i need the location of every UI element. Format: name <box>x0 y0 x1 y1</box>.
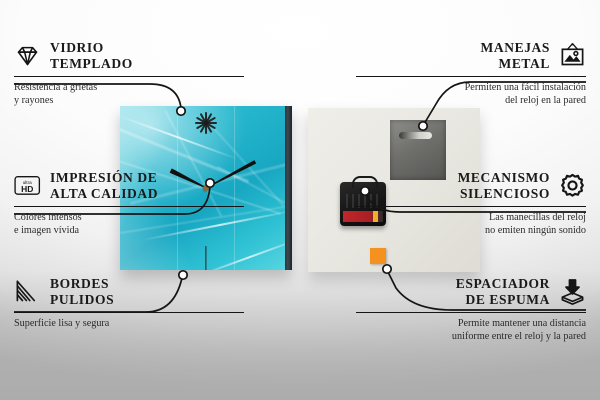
feature-desc-line2: y rayones <box>14 94 244 107</box>
feature-desc-line1: Colores intensos <box>14 211 244 224</box>
feature-desc-line2: e imagen vívida <box>14 224 244 237</box>
feature-title-line1: MECANISMO <box>458 170 550 186</box>
feature-desc-line2: del reloj en la pared <box>356 94 586 107</box>
feature-title-line1: MANEJAS <box>481 40 550 56</box>
feature-desc-line1: Permiten una fácil instalación <box>356 81 586 94</box>
feature-title-line2: DE ESPUMA <box>456 292 550 308</box>
feature-title-line2: PULIDOS <box>50 292 114 308</box>
feature-title-line1: BORDES <box>50 276 114 292</box>
feature-desc-line1: Permite mantener una distancia <box>356 317 586 330</box>
feature-title-line2: METAL <box>481 56 550 72</box>
feature-rule <box>14 206 244 208</box>
clock-second-hand <box>205 246 206 270</box>
feature-rule <box>14 76 244 78</box>
ultra-hd-badge-icon: ultra HD <box>14 172 41 199</box>
feature-rule <box>356 312 586 314</box>
feature-rule <box>356 76 586 78</box>
feature-title-line2: TEMPLADO <box>50 56 133 72</box>
hanging-frame-icon <box>559 42 586 69</box>
polished-edge-icon <box>14 278 41 305</box>
svg-text:HD: HD <box>21 184 33 194</box>
diamond-icon <box>14 42 41 69</box>
feature-desc-line1: Resistencia a grietas <box>14 81 244 94</box>
foam-spacer-arrow-icon <box>559 278 586 305</box>
feature-title-line2: SILENCIOSO <box>458 186 550 202</box>
feature-desc-line1: Superficie lisa y segura <box>14 317 244 330</box>
feature-espaciador-de-espuma: ESPACIADOR DE ESPUMA Permite mantener un… <box>356 276 586 344</box>
feature-vidrio-templado: VIDRIO TEMPLADO Resistencia a grietas y … <box>14 40 244 108</box>
feature-bordes-pulidos: BORDES PULIDOS Superficie lisa y segura <box>14 276 244 330</box>
feature-desc-line2: no emiten ningún sonido <box>356 224 586 237</box>
feature-desc-line2: uniforme entre el reloj y la pared <box>356 330 586 343</box>
feature-title-line1: IMPRESIÓN DE <box>50 170 158 186</box>
feature-title-line1: VIDRIO <box>50 40 133 56</box>
gear-icon <box>559 172 586 199</box>
feature-mecanismo-silencioso: MECANISMO SILENCIOSO Las manecillas del … <box>356 170 586 238</box>
foam-spacer <box>370 248 386 264</box>
product-infographic: VIDRIO TEMPLADO Resistencia a grietas y … <box>0 0 600 400</box>
feature-desc-line1: Las manecillas del reloj <box>356 211 586 224</box>
feature-impresion-alta-calidad: ultra HD IMPRESIÓN DE ALTA CALIDAD Color… <box>14 170 244 238</box>
feature-rule <box>356 206 586 208</box>
feature-rule <box>14 312 244 314</box>
feature-manejas-metal: MANEJAS METAL Permiten una fácil instala… <box>356 40 586 108</box>
feature-title-line1: ESPACIADOR <box>456 276 550 292</box>
feature-title-line2: ALTA CALIDAD <box>50 186 158 202</box>
